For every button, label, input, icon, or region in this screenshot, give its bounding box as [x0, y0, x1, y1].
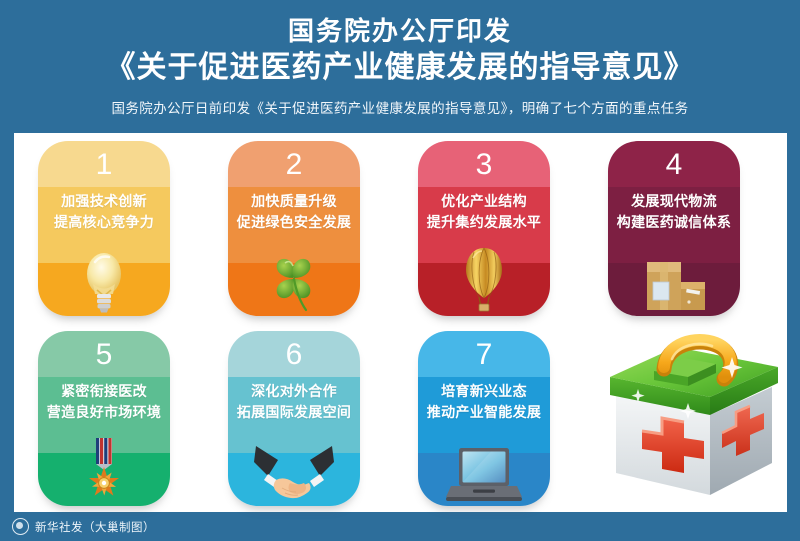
task-card-3[interactable]: 3 优化产业结构 提升集约发展水平 — [418, 141, 550, 316]
card-text-line2: 拓展国际发展空间 — [228, 402, 360, 423]
card-text: 紧密衔接医改 营造良好市场环境 — [38, 381, 170, 423]
card-text-line1: 培育新兴业态 — [418, 381, 550, 402]
card-number: 7 — [418, 331, 550, 377]
card-cell-5: 5 紧密衔接医改 营造良好市场环境 — [22, 323, 186, 513]
card-number: 3 — [418, 141, 550, 187]
card-cell-4: 4 发展现代物流 构建医药诚信体系 — [592, 133, 756, 323]
task-card-grid: 1 加强技术创新 提高核心竞争力 — [14, 133, 787, 512]
card-text: 发展现代物流 构建医药诚信体系 — [608, 191, 740, 233]
card-number: 4 — [608, 141, 740, 187]
card-text: 优化产业结构 提升集约发展水平 — [418, 191, 550, 233]
four-leaf-clover-icon — [228, 242, 360, 314]
card-cell-6: 6 深化对外合作 拓展国际发展空间 — [212, 323, 376, 513]
infographic-poster: 国务院办公厅印发 《关于促进医药产业健康发展的指导意见》 国务院办公厅日前印发《… — [0, 0, 800, 541]
cardboard-boxes-icon — [608, 242, 740, 314]
card-number: 1 — [38, 141, 170, 187]
poster-header: 国务院办公厅印发 《关于促进医药产业健康发展的指导意见》 国务院办公厅日前印发《… — [0, 0, 800, 133]
card-text-line2: 推动产业智能发展 — [418, 402, 550, 423]
task-card-5[interactable]: 5 紧密衔接医改 营造良好市场环境 — [38, 331, 170, 506]
handshake-icon — [228, 432, 360, 504]
card-cell-3: 3 优化产业结构 提升集约发展水平 — [402, 133, 566, 323]
card-text-line2: 营造良好市场环境 — [38, 402, 170, 423]
task-card-4[interactable]: 4 发展现代物流 构建医药诚信体系 — [608, 141, 740, 316]
credit-text: 新华社发（大巢制图） — [35, 519, 155, 535]
lightbulb-icon — [38, 242, 170, 314]
task-card-2[interactable]: 2 加快质量升级 促进绿色安全发展 — [228, 141, 360, 316]
task-card-6[interactable]: 6 深化对外合作 拓展国际发展空间 — [228, 331, 360, 506]
poster-footer: 新华社发（大巢制图） — [0, 512, 800, 541]
card-cell-1: 1 加强技术创新 提高核心竞争力 — [22, 133, 186, 323]
card-text-line2: 构建医药诚信体系 — [608, 212, 740, 233]
card-text-line1: 深化对外合作 — [228, 381, 360, 402]
card-text-line2: 提升集约发展水平 — [418, 212, 550, 233]
card-text-line1: 加强技术创新 — [38, 191, 170, 212]
page-title-line1: 国务院办公厅印发 — [0, 0, 800, 48]
card-text-line2: 提高核心竞争力 — [38, 212, 170, 233]
page-title-line2: 《关于促进医药产业健康发展的指导意见》 — [0, 48, 800, 88]
card-number: 6 — [228, 331, 360, 377]
hot-air-balloon-icon — [418, 242, 550, 314]
task-card-1[interactable]: 1 加强技术创新 提高核心竞争力 — [38, 141, 170, 316]
card-text-line1: 加快质量升级 — [228, 191, 360, 212]
medical-first-aid-kit-illustration — [592, 323, 788, 513]
card-text: 培育新兴业态 推动产业智能发展 — [418, 381, 550, 423]
page-subtitle: 国务院办公厅日前印发《关于促进医药产业健康发展的指导意见》，明确了七个方面的重点… — [0, 100, 800, 118]
task-card-7[interactable]: 7 培育新兴业态 推动产业智能发展 — [418, 331, 550, 506]
card-text-line2: 促进绿色安全发展 — [228, 212, 360, 233]
card-text-line1: 优化产业结构 — [418, 191, 550, 212]
content-panel: 1 加强技术创新 提高核心竞争力 — [14, 133, 787, 512]
card-number: 5 — [38, 331, 170, 377]
xinhua-logo-icon — [12, 518, 29, 535]
card-text: 加强技术创新 提高核心竞争力 — [38, 191, 170, 233]
card-text-line1: 发展现代物流 — [608, 191, 740, 212]
card-number: 2 — [228, 141, 360, 187]
card-text-line1: 紧密衔接医改 — [38, 381, 170, 402]
card-cell-2: 2 加快质量升级 促进绿色安全发展 — [212, 133, 376, 323]
card-cell-7: 7 培育新兴业态 推动产业智能发展 — [402, 323, 566, 513]
card-text: 加快质量升级 促进绿色安全发展 — [228, 191, 360, 233]
medal-icon — [38, 432, 170, 504]
laptop-icon — [418, 432, 550, 504]
card-text: 深化对外合作 拓展国际发展空间 — [228, 381, 360, 423]
